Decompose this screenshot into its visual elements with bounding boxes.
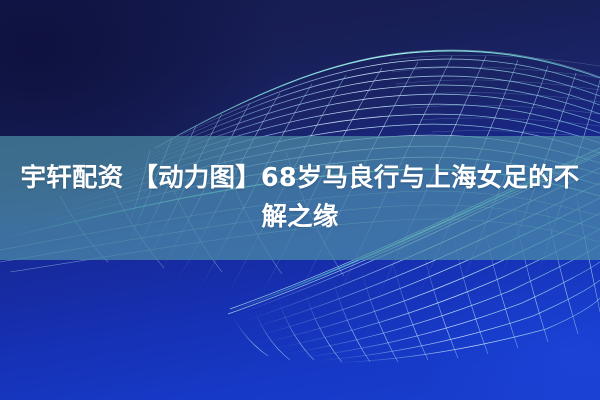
banner-image: 宇轩配资 【动力图】68岁马良行与上海女足的不解之缘 xyxy=(0,0,600,400)
page-title: 宇轩配资 【动力图】68岁马良行与上海女足的不解之缘 xyxy=(18,159,582,237)
headline-block: 宇轩配资 【动力图】68岁马良行与上海女足的不解之缘 xyxy=(0,136,600,260)
